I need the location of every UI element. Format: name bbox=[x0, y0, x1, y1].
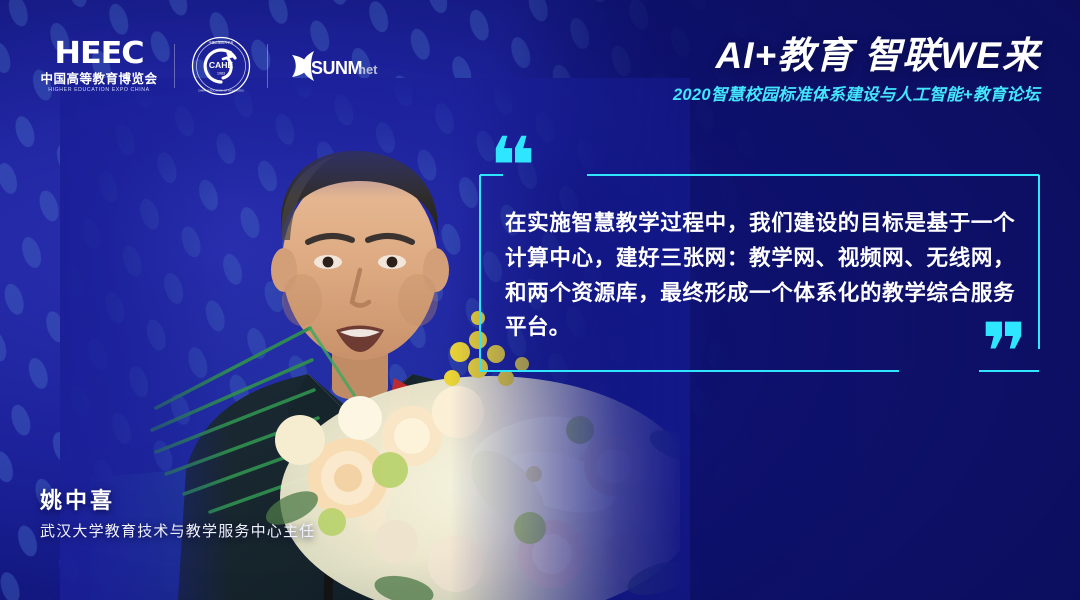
heec-wordmark: HEEC bbox=[36, 39, 161, 69]
quote-card: ❝ 在实施智慧教学过程中，我们建设的目标是基于一个计算中心，建好三张网：教学网、… bbox=[479, 174, 1040, 372]
logo-bar: HEEC 中国高等教育博览会 HIGHER EDUCATION EXPO CHI… bbox=[40, 33, 378, 99]
logo-divider-1 bbox=[174, 44, 175, 88]
cahe-year: 1983 bbox=[217, 71, 225, 75]
quote-open-mark: ❝ bbox=[489, 138, 536, 196]
logo-divider-2 bbox=[267, 44, 268, 88]
event-subtitle: 2020智慧校园标准体系建设与人工智能+教育论坛 bbox=[673, 81, 1040, 105]
sunm-suffix: net bbox=[358, 62, 378, 77]
event-title-block: AI+教育 智联WE来 2020智慧校园标准体系建设与人工智能+教育论坛 bbox=[673, 36, 1040, 105]
cahe-ring-bottom-text: CHINA ASSOCIATION OF HIGHER EDU bbox=[198, 90, 244, 93]
cahe-ring-top-text: 中国高等教育学会 bbox=[209, 40, 234, 45]
event-title: AI+教育 智联WE来 bbox=[673, 36, 1040, 76]
sunmnet-logo: SUNM net bbox=[284, 49, 378, 83]
heec-english-name: HIGHER EDUCATION EXPO CHINA bbox=[40, 88, 158, 93]
speaker-info: 姚中喜 武汉大学教育技术与教学服务中心主任 bbox=[40, 488, 315, 541]
sunm-wordmark: SUNM bbox=[311, 58, 362, 78]
cahe-wordmark: CAHE bbox=[209, 60, 234, 70]
speaker-name: 姚中喜 bbox=[40, 488, 315, 514]
quote-close-mark: ❞ bbox=[981, 324, 1028, 382]
quote-text: 在实施智慧教学过程中，我们建设的目标是基于一个计算中心，建好三张网：教学网、视频… bbox=[505, 206, 1015, 345]
heec-chinese-name: 中国高等教育博览会 bbox=[40, 73, 158, 86]
heec-logo: HEEC 中国高等教育博览会 HIGHER EDUCATION EXPO CHI… bbox=[40, 39, 158, 94]
cahe-logo: CAHE 1983 中国高等教育学会 CHINA ASSOCIATION OF … bbox=[191, 36, 251, 96]
event-banner: HEEC 中国高等教育博览会 HIGHER EDUCATION EXPO CHI… bbox=[0, 0, 1080, 600]
speaker-title: 武汉大学教育技术与教学服务中心主任 bbox=[40, 523, 315, 541]
